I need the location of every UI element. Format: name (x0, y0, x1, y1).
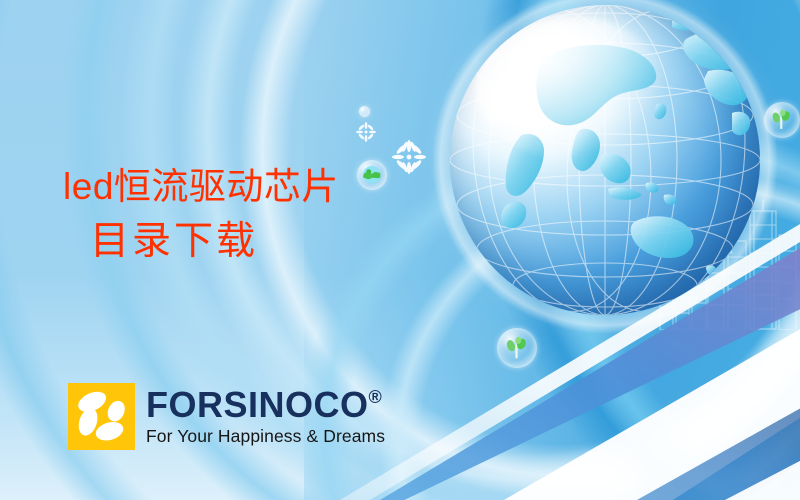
logo-wordmark-text: FORSINOCO (146, 387, 369, 423)
globe-gloss-highlight (475, 17, 667, 160)
registered-trademark-symbol: ® (369, 388, 383, 406)
headline-block: led恒流驱动芯片 目录下载 (0, 168, 420, 262)
leaf-sprout-icon-right (770, 108, 793, 131)
promo-banner: led恒流驱动芯片 目录下载 FORSINOCO ® For Your Happ… (0, 0, 800, 500)
company-logo[interactable]: FORSINOCO ® For Your Happiness & Dreams (68, 383, 385, 450)
starburst-small-icon (356, 122, 376, 142)
headline-line-2: 目录下载 (0, 222, 420, 262)
headline-line-1: led恒流驱动芯片 (0, 168, 420, 206)
logo-text-block: FORSINOCO ® For Your Happiness & Dreams (146, 387, 385, 446)
bubble-small-left (359, 106, 370, 117)
bubble-leaf-icon-right (764, 102, 800, 138)
logo-wordmark: FORSINOCO ® (146, 387, 385, 423)
logo-tagline: For Your Happiness & Dreams (146, 428, 385, 446)
forsinoco-pinwheel-mark (68, 383, 135, 450)
pinwheel-petals-icon (68, 383, 135, 450)
